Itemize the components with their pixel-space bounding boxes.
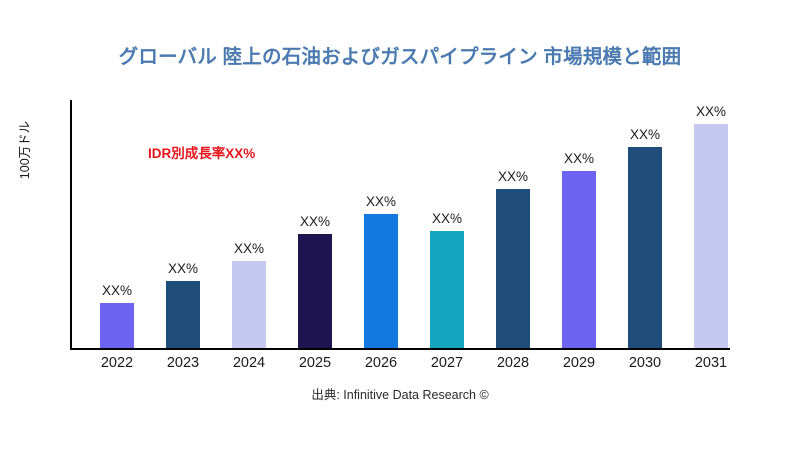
bar-2027[interactable]: XX%: [430, 231, 464, 348]
x-tick-2029: 2029: [549, 355, 609, 371]
growth-rate-annotation: IDR別成長率XX%: [148, 142, 255, 162]
x-tick-2023: 2023: [153, 355, 213, 371]
x-axis-line: [70, 348, 730, 350]
bar-value-label: XX%: [366, 194, 396, 209]
bar-2028[interactable]: XX%: [496, 189, 530, 348]
x-tick-2022: 2022: [87, 355, 147, 371]
x-tick-2028: 2028: [483, 355, 543, 371]
bar-2031[interactable]: XX%: [694, 124, 728, 348]
source-caption: 出典: Infinitive Data Research ©: [0, 384, 800, 403]
bar-2030[interactable]: XX%: [628, 147, 662, 348]
bar-value-label: XX%: [630, 127, 660, 142]
bar-chart: グローバル 陸上の石油およびガスパイプライン 市場規模と範囲 100万ドル ID…: [0, 0, 800, 450]
bar-2022[interactable]: XX%: [100, 303, 134, 348]
bar-value-label: XX%: [300, 214, 330, 229]
bar-value-label: XX%: [696, 104, 726, 119]
bar-2026[interactable]: XX%: [364, 214, 398, 348]
x-tick-2030: 2030: [615, 355, 675, 371]
x-tick-2031: 2031: [681, 355, 741, 371]
y-axis-label: 100万ドル: [14, 80, 33, 220]
bar-2029[interactable]: XX%: [562, 171, 596, 348]
x-tick-2024: 2024: [219, 355, 279, 371]
bar-value-label: XX%: [498, 169, 528, 184]
bar-value-label: XX%: [234, 241, 264, 256]
bar-2023[interactable]: XX%: [166, 281, 200, 348]
bar-value-label: XX%: [168, 261, 198, 276]
bar-value-label: XX%: [102, 283, 132, 298]
bar-2024[interactable]: XX%: [232, 261, 266, 348]
x-tick-2025: 2025: [285, 355, 345, 371]
page-title: グローバル 陸上の石油およびガスパイプライン 市場規模と範囲: [0, 40, 800, 69]
x-tick-2027: 2027: [417, 355, 477, 371]
bar-value-label: XX%: [432, 211, 462, 226]
y-axis-line: [70, 100, 72, 349]
bar-2025[interactable]: XX%: [298, 234, 332, 348]
bar-value-label: XX%: [564, 151, 594, 166]
x-tick-2026: 2026: [351, 355, 411, 371]
